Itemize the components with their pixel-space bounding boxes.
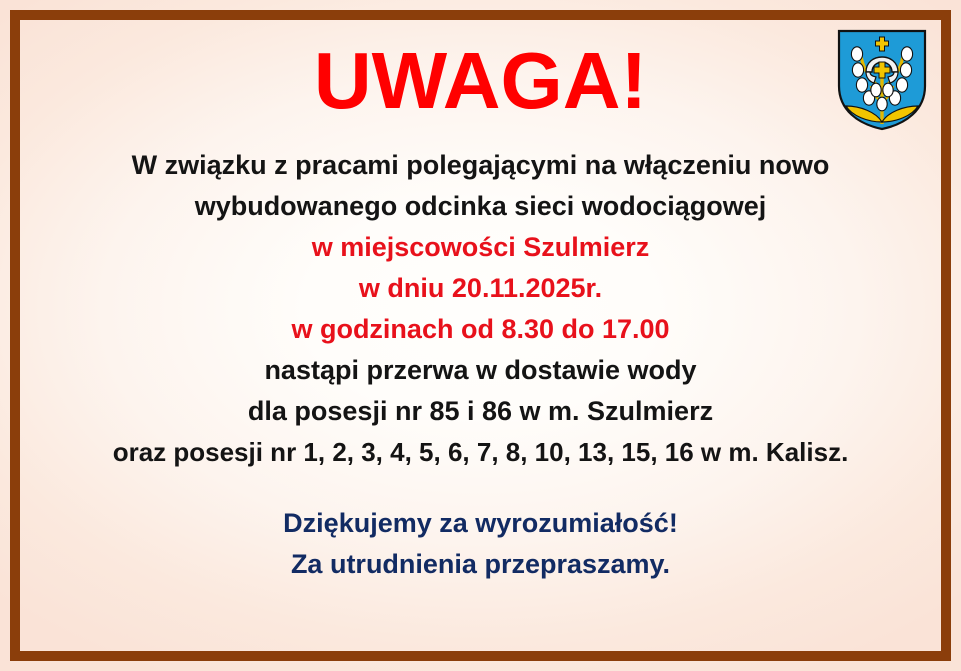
notice-line: wybudowanego odcinka sieci wodociągowej <box>20 186 941 227</box>
notice-line: nastąpi przerwa w dostawie wody <box>20 350 941 391</box>
notice-poster: UWAGA! W związku z pracami polegającymi … <box>0 0 961 671</box>
notice-body: W związku z pracami polegającymi na włąc… <box>20 145 941 585</box>
poster-content: UWAGA! W związku z pracami polegającymi … <box>20 20 941 651</box>
closing-line-apology: Za utrudnienia przepraszamy. <box>20 544 941 585</box>
notice-line-properties: oraz posesji nr 1, 2, 3, 4, 5, 6, 7, 8, … <box>20 432 941 473</box>
closing-line-thanks: Dziękujemy za wyrozumiałość! <box>20 503 941 544</box>
page-title: UWAGA! <box>20 38 941 124</box>
notice-line-location: w miejscowości Szulmierz <box>20 227 941 268</box>
spacer <box>20 473 941 503</box>
notice-line: W związku z pracami polegającymi na włąc… <box>20 145 941 186</box>
notice-line: dla posesji nr 85 i 86 w m. Szulmierz <box>20 391 941 432</box>
notice-line-date: w dniu 20.11.2025r. <box>20 268 941 309</box>
notice-line-hours: w godzinach od 8.30 do 17.00 <box>20 309 941 350</box>
